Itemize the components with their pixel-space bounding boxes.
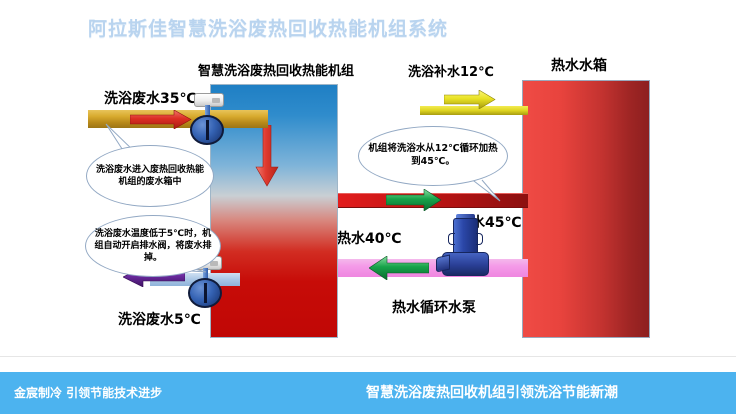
valve-disc-icon bbox=[188, 278, 222, 308]
hot-supply-flow-arrow-icon bbox=[386, 189, 442, 211]
callout-heating-cycle: 机组将洗浴水从12℃循环加热到45℃。 bbox=[358, 126, 508, 186]
butterfly-valve-icon[interactable] bbox=[190, 93, 226, 146]
hot-water-40-label: 热水40℃ bbox=[337, 228, 401, 248]
hot-water-tank bbox=[522, 80, 650, 338]
banner-divider bbox=[0, 356, 736, 357]
waste-water-in-label: 洗浴废水35℃ bbox=[104, 88, 196, 108]
down-flow-arrow-icon bbox=[255, 125, 279, 187]
waste-inlet-flow-arrow-icon bbox=[130, 110, 192, 129]
banner-left-text: 金宸制冷 引领节能技术进步 bbox=[14, 384, 162, 401]
bottom-banner: 金宸制冷 引领节能技术进步 智慧洗浴废热回收机组引领洗浴节能新潮 bbox=[0, 372, 736, 414]
banner-right-text: 智慧洗浴废热回收机组引领洗浴节能新潮 bbox=[366, 382, 618, 402]
waste-water-out-label: 洗浴废水5℃ bbox=[118, 309, 201, 329]
pump-label: 热水循环水泵 bbox=[392, 297, 476, 317]
callout-text: 洗浴废水温度低于5℃时，机组自动开启排水阀，将废水排掉。 bbox=[86, 228, 220, 264]
hot-water-tank-label: 热水水箱 bbox=[551, 55, 607, 75]
makeup-water-label: 洗浴补水12℃ bbox=[408, 61, 494, 80]
pump-inlet-icon bbox=[436, 255, 450, 273]
callout-text: 机组将洗浴水从12℃循环加热到45℃。 bbox=[359, 143, 507, 169]
callout-text: 洗浴废水进入废热回收热能机组的废水箱中 bbox=[87, 164, 213, 188]
page-title: 阿拉斯佳智慧洗浴废热回收热能机组系统 bbox=[88, 14, 448, 41]
pump-motor-icon bbox=[453, 218, 478, 256]
unit-label: 智慧洗浴废热回收热能机组 bbox=[198, 60, 354, 79]
makeup-water-flow-arrow-icon bbox=[444, 90, 496, 109]
callout-waste-in-tank: 洗浴废水进入废热回收热能机组的废水箱中 bbox=[86, 145, 214, 207]
valve-disc-icon bbox=[190, 115, 224, 145]
hot-water-return-pipe bbox=[338, 259, 528, 277]
circulation-pump-icon[interactable] bbox=[440, 218, 490, 280]
callout-drain-valve: 洗浴废水温度低于5℃时，机组自动开启排水阀，将废水排掉。 bbox=[85, 215, 221, 277]
diagram-canvas: 阿拉斯佳智慧洗浴废热回收热能机组系统 智慧洗浴废热回收热能机组 洗浴补水12℃ … bbox=[0, 0, 736, 414]
hot-return-flow-arrow-icon bbox=[369, 256, 429, 280]
